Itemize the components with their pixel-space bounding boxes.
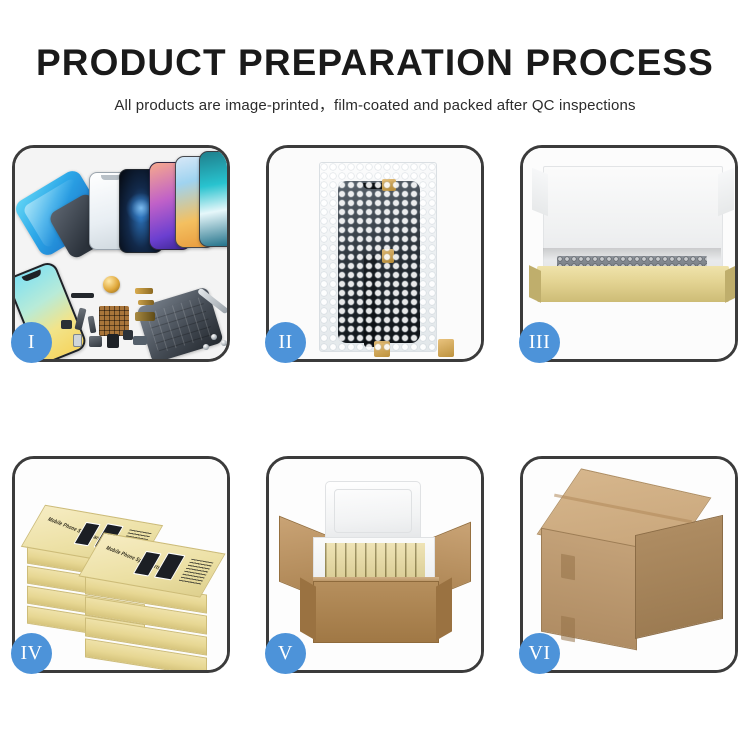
part-icon (73, 334, 82, 347)
screw-icon (203, 344, 209, 350)
process-step-4: Mobile Phone Spare Parts Mobile Phone Sp… (12, 456, 230, 673)
step-badge-4: IV (11, 633, 52, 674)
carton-front-face-icon (541, 528, 637, 651)
step-6-image (523, 459, 735, 670)
step-badge-1: I (11, 322, 52, 363)
step-2-image (269, 148, 481, 359)
carton-front-icon (313, 581, 439, 643)
part-icon (123, 330, 133, 340)
foam-lined-carton-scene (269, 459, 481, 670)
process-step-5: V (266, 456, 484, 673)
process-step-1: I (12, 145, 230, 362)
header: PRODUCT PREPARATION PROCESS All products… (0, 42, 750, 115)
step-badge-3: III (519, 322, 560, 363)
box-front-panel-icon (537, 266, 729, 302)
tape-icon (382, 179, 396, 191)
box-spec-lines (178, 559, 213, 586)
screw-icon (211, 334, 217, 340)
step-4-image: Mobile Phone Spare Parts Mobile Phone Sp… (15, 459, 227, 670)
tape-icon (382, 249, 394, 263)
styrofoam-lid-icon (325, 481, 421, 543)
gold-chip-icon (103, 276, 120, 293)
teal-phone-icon (199, 151, 227, 247)
process-step-3: III (520, 145, 738, 362)
process-step-2: II (266, 145, 484, 362)
part-icon (138, 300, 154, 305)
packed-yellow-boxes-icon (325, 543, 425, 579)
tape-icon (438, 339, 454, 357)
step-5-image (269, 459, 481, 670)
step-3-image (523, 148, 735, 359)
step-1-image (15, 148, 227, 359)
process-step-6: VI (520, 456, 738, 673)
part-icon (135, 312, 155, 321)
screw-icon (221, 340, 227, 346)
part-icon (61, 320, 72, 329)
phone-parts-scene (15, 148, 227, 359)
part-icon (88, 316, 97, 334)
carton-tape-icon (561, 554, 575, 581)
bubble-wrap-bag-icon (319, 162, 437, 352)
open-inner-box-scene (523, 148, 735, 359)
part-icon (74, 307, 86, 330)
product-preparation-infographic: PRODUCT PREPARATION PROCESS All products… (0, 0, 750, 750)
step-badge-5: V (265, 633, 306, 674)
carton-side-face-icon (635, 515, 723, 639)
part-icon (71, 293, 94, 298)
step-badge-6: VI (519, 633, 560, 674)
page-subtitle: All products are image-printed，film-coat… (0, 94, 750, 115)
process-step-grid: I II (12, 145, 738, 673)
step-badge-2: II (265, 322, 306, 363)
page-title: PRODUCT PREPARATION PROCESS (0, 42, 750, 83)
tape-icon (374, 341, 390, 357)
part-icon (135, 288, 153, 294)
sealed-carton-scene (523, 459, 735, 670)
part-icon (133, 336, 147, 345)
part-icon (107, 334, 119, 348)
bubble-wrap-scene (269, 148, 481, 359)
part-icon (89, 336, 102, 347)
carton-tape-icon (561, 616, 575, 643)
stacked-boxes-scene: Mobile Phone Spare Parts Mobile Phone Sp… (15, 459, 227, 670)
lcd-screen-icon (338, 181, 420, 343)
flex-cable-icon (364, 255, 377, 347)
